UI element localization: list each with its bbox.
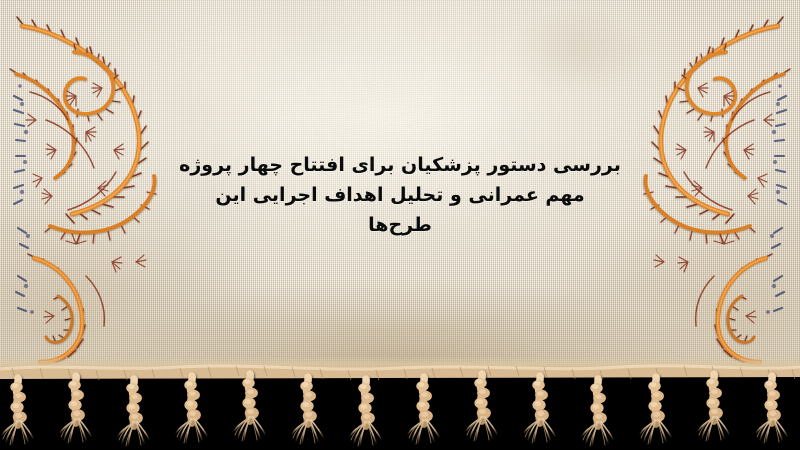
fabric-hem [0,356,800,374]
textile-banner-image: بررسی دستور پزشکیان برای افتتاح چهار پرو… [0,0,800,450]
backdrop-black [0,368,800,450]
fabric-ground [0,0,800,372]
